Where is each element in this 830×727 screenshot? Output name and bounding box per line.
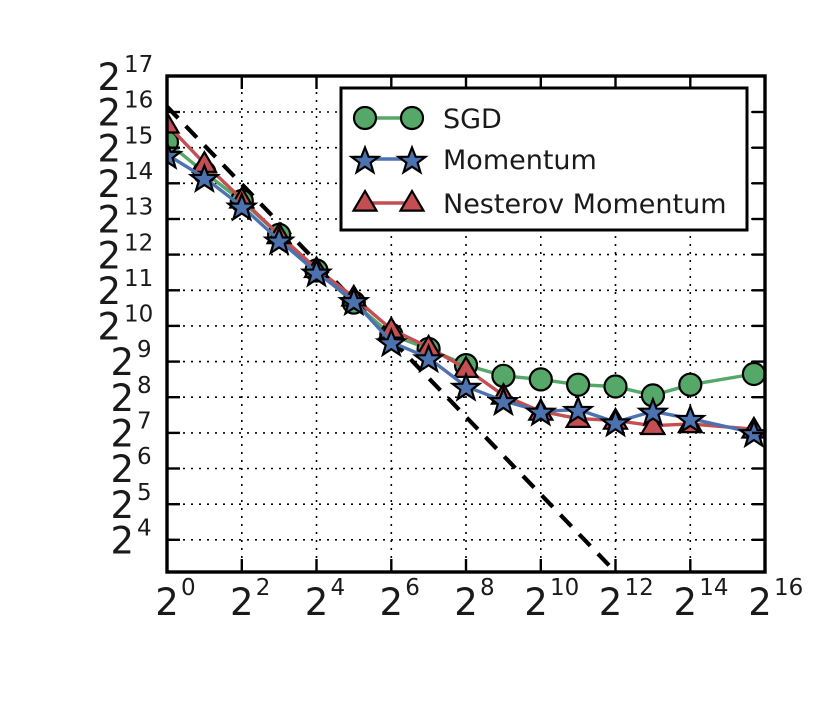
x-tick-exponent: 16 <box>774 575 803 601</box>
y-tick-exponent: 10 <box>124 302 153 328</box>
x-tick-exponent: 2 <box>256 575 271 601</box>
y-tick-exponent: 8 <box>137 373 152 399</box>
x-tick-base: 2 <box>155 581 179 624</box>
y-tick-exponent: 16 <box>124 88 153 114</box>
chart-page: Steps to Reach 0.01 Validation Error Ste… <box>0 0 830 727</box>
x-tick-exponent: 8 <box>480 575 495 601</box>
legend-label-sgd: SGD <box>443 104 502 135</box>
x-tick-exponent: 6 <box>405 575 420 601</box>
y-tick-exponent: 6 <box>137 444 152 470</box>
chart-svg: Steps to Reach 0.01 Validation Error Ste… <box>0 0 830 727</box>
x-tick-exponent: 14 <box>699 575 728 601</box>
x-tick-exponent: 0 <box>181 575 196 601</box>
circle-icon <box>401 107 423 129</box>
legend-label-momentum: Momentum <box>443 145 597 176</box>
x-tick-exponent: 12 <box>625 575 654 601</box>
x-tick-base: 2 <box>305 581 329 624</box>
y-tick-exponent: 15 <box>124 123 153 149</box>
x-tick-base: 2 <box>230 581 254 624</box>
matplotlib-figure: Steps to Reach 0.01 Validation Error Ste… <box>0 0 830 727</box>
y-tick-exponent: 7 <box>137 409 152 435</box>
x-tick-base: 2 <box>674 581 698 624</box>
x-tick-base: 2 <box>524 581 548 624</box>
x-tick-base: 2 <box>380 581 404 624</box>
y-tick-exponent: 13 <box>124 195 153 221</box>
x-tick-exponent: 4 <box>331 575 346 601</box>
circle-icon <box>354 107 376 129</box>
y-tick-exponent: 11 <box>124 266 153 292</box>
y-tick-base: 2 <box>110 520 134 563</box>
y-tick-exponent: 9 <box>137 337 152 363</box>
y-tick-exponent: 4 <box>137 516 152 542</box>
legend-label-nesterov-momentum: Nesterov Momentum <box>443 189 727 220</box>
x-tick-exponent: 10 <box>550 575 579 601</box>
y-tick-exponent: 5 <box>137 480 152 506</box>
x-tick-base: 2 <box>599 581 623 624</box>
y-tick-exponent: 14 <box>124 159 153 185</box>
y-tick-exponent: 17 <box>124 52 153 78</box>
y-tick-exponent: 12 <box>124 230 153 256</box>
legend[interactable]: SGD Momentum Nesterov Momentum <box>341 88 747 230</box>
x-tick-base: 2 <box>748 581 772 624</box>
x-tick-base: 2 <box>454 581 478 624</box>
